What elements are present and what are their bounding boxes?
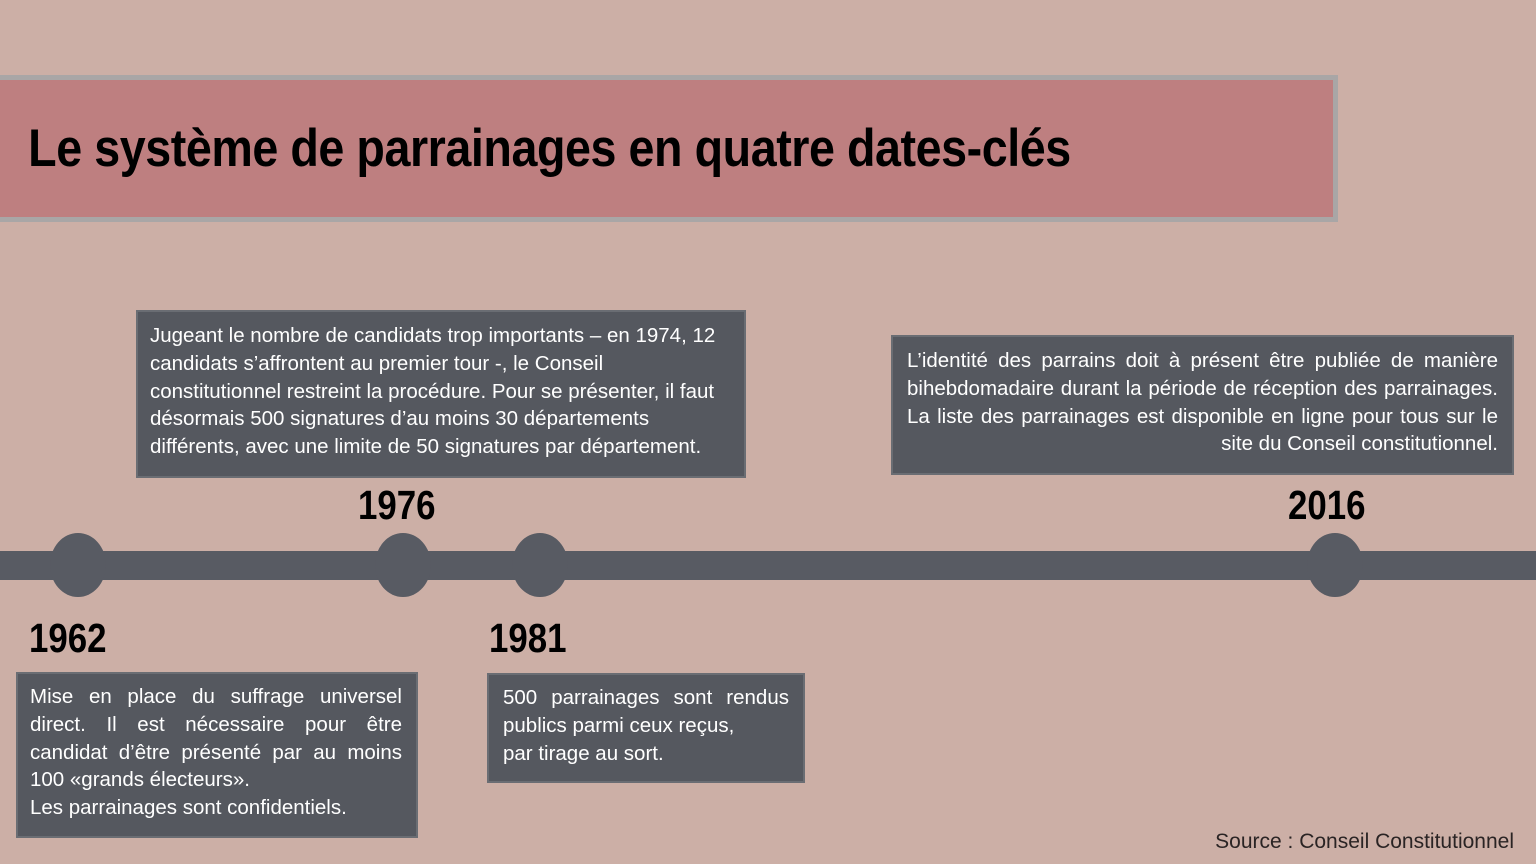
timeline-dot-1962[interactable] xyxy=(50,533,106,597)
timeline-bar xyxy=(0,551,1536,580)
timeline-dot-1981[interactable] xyxy=(512,533,568,597)
page-title: Le système de parrainages en quatre date… xyxy=(0,122,1071,175)
title-banner: Le système de parrainages en quatre date… xyxy=(0,75,1338,222)
event-paragraph: 500 parrainages sont rendus publics parm… xyxy=(503,684,789,740)
event-paragraph: L’identité des parrains doit à présent ê… xyxy=(907,347,1498,458)
infographic-canvas: Le système de parrainages en quatre date… xyxy=(0,0,1536,864)
timeline-year-1976: 1976 xyxy=(358,485,436,526)
source-credit: Source : Conseil Constitutionnel xyxy=(1215,831,1514,852)
timeline-year-1981: 1981 xyxy=(489,618,567,659)
event-paragraph: Mise en place du suffrage universel dire… xyxy=(30,683,402,794)
event-description-1981: 500 parrainages sont rendus publics parm… xyxy=(487,673,805,783)
timeline-dot-1976[interactable] xyxy=(375,533,431,597)
timeline-year-2016: 2016 xyxy=(1288,485,1366,526)
event-description-2016: L’identité des parrains doit à présent ê… xyxy=(891,335,1514,475)
timeline-year-1962: 1962 xyxy=(29,618,107,659)
event-paragraph: Jugeant le nombre de candidats trop impo… xyxy=(150,322,730,461)
event-description-1962: Mise en place du suffrage universel dire… xyxy=(16,672,418,838)
event-paragraph: par tirage au sort. xyxy=(503,740,789,768)
event-description-1976: Jugeant le nombre de candidats trop impo… xyxy=(136,310,746,478)
event-paragraph: Les parrainages sont confidentiels. xyxy=(30,794,402,822)
timeline-dot-2016[interactable] xyxy=(1307,533,1363,597)
